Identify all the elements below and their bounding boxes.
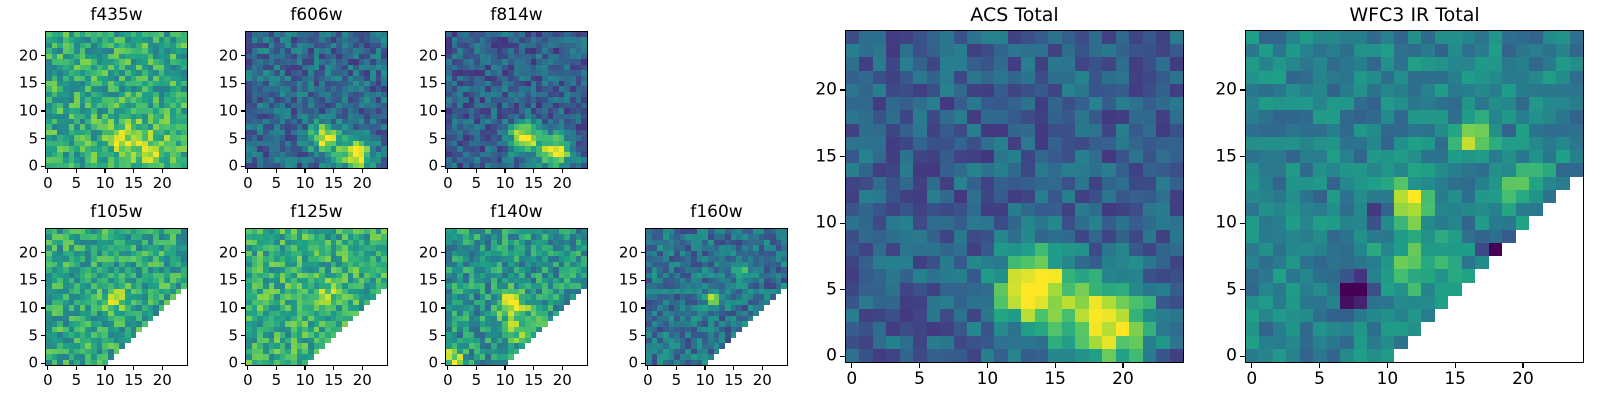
- xtick-f125w-2: [304, 366, 305, 370]
- xtick-f435w-3: [133, 169, 134, 173]
- xticklabel-f814w-3: 15: [524, 176, 543, 191]
- xtick-f606w-3: [333, 169, 334, 173]
- xtick-f105w-0: [47, 366, 48, 370]
- yticklabel-f814w-4: 20: [401, 48, 438, 63]
- panel-f105w: f105w0510152005101520: [1, 202, 192, 394]
- yticklabel-f814w-0: 0: [401, 159, 438, 174]
- yticklabel-acs-total-0: 0: [801, 348, 837, 365]
- panel-f606w: f606w0510152005101520: [201, 5, 392, 197]
- xticklabel-f160w-2: 10: [696, 373, 715, 388]
- yticklabel-f814w-2: 10: [401, 104, 438, 119]
- ytick-wfc3-ir-total-2: [1240, 223, 1245, 224]
- yticklabel-f140w-0: 0: [401, 356, 438, 371]
- xticklabel-f606w-1: 5: [272, 176, 282, 191]
- yticklabel-wfc3-ir-total-4: 20: [1201, 81, 1237, 98]
- yticklabel-f105w-2: 10: [1, 301, 38, 316]
- xticklabel-wfc3-ir-total-0: 0: [1246, 371, 1257, 388]
- xticklabel-wfc3-ir-total-2: 10: [1377, 371, 1399, 388]
- yticklabel-acs-total-1: 5: [801, 281, 837, 298]
- xtick-acs-total-4: [1122, 363, 1123, 368]
- xtick-f160w-1: [676, 366, 677, 370]
- ytick-wfc3-ir-total-3: [1240, 156, 1245, 157]
- xtick-f160w-0: [647, 366, 648, 370]
- yticklabel-f105w-3: 15: [1, 273, 38, 288]
- yticklabel-acs-total-4: 20: [801, 81, 837, 98]
- panel-title-f606w: f606w: [245, 7, 388, 24]
- xticklabel-f125w-3: 15: [324, 373, 343, 388]
- xticklabel-f140w-3: 15: [524, 373, 543, 388]
- xtick-f125w-3: [333, 366, 334, 370]
- xtick-acs-total-0: [851, 363, 852, 368]
- plot-area-f160w: [645, 228, 788, 366]
- xticklabel-f160w-1: 5: [672, 373, 682, 388]
- yticklabel-f125w-1: 5: [201, 328, 238, 343]
- yticklabel-f140w-4: 20: [401, 245, 438, 260]
- xtick-f435w-4: [162, 169, 163, 173]
- xtick-f140w-2: [504, 366, 505, 370]
- yticklabel-f125w-4: 20: [201, 245, 238, 260]
- yticklabel-f140w-3: 15: [401, 273, 438, 288]
- ytick-f160w-1: [641, 335, 645, 336]
- yticklabel-f105w-1: 5: [1, 328, 38, 343]
- yticklabel-f140w-2: 10: [401, 301, 438, 316]
- xticklabel-f160w-0: 0: [643, 373, 653, 388]
- xticklabel-f160w-3: 15: [724, 373, 743, 388]
- xticklabel-f125w-1: 5: [272, 373, 282, 388]
- yticklabel-f125w-3: 15: [201, 273, 238, 288]
- ytick-f160w-0: [641, 363, 645, 364]
- xticklabel-f814w-0: 0: [443, 176, 453, 191]
- yticklabel-f160w-3: 15: [601, 273, 638, 288]
- xticklabel-f125w-2: 10: [296, 373, 315, 388]
- xtick-f814w-0: [447, 169, 448, 173]
- yticklabel-f435w-0: 0: [1, 159, 38, 174]
- xticklabel-f160w-4: 20: [753, 373, 772, 388]
- xtick-f814w-4: [562, 169, 563, 173]
- heatmap-grid-f105w: [46, 229, 187, 365]
- yticklabel-f435w-2: 10: [1, 104, 38, 119]
- yticklabel-f140w-1: 5: [401, 328, 438, 343]
- yticklabel-f160w-0: 0: [601, 356, 638, 371]
- panel-f435w: f435w0510152005101520: [1, 5, 192, 197]
- heatmap-grid-f125w: [246, 229, 387, 365]
- ytick-f140w-0: [441, 363, 445, 364]
- panel-title-f160w: f160w: [645, 204, 788, 221]
- xticklabel-f125w-0: 0: [243, 373, 253, 388]
- ytick-f606w-2: [241, 110, 245, 111]
- xtick-f105w-1: [76, 366, 77, 370]
- xtick-f140w-4: [562, 366, 563, 370]
- yticklabel-f160w-4: 20: [601, 245, 638, 260]
- ytick-f814w-0: [441, 166, 445, 167]
- yticklabel-f435w-1: 5: [1, 131, 38, 146]
- heatmap-grid-f140w: [446, 229, 587, 365]
- ytick-f125w-4: [241, 252, 245, 253]
- xtick-f435w-2: [104, 169, 105, 173]
- xtick-f140w-0: [447, 366, 448, 370]
- xticklabel-wfc3-ir-total-3: 15: [1444, 371, 1466, 388]
- xtick-f140w-3: [533, 366, 534, 370]
- xtick-f606w-0: [247, 169, 248, 173]
- heatmap-grid-f160w: [646, 229, 787, 365]
- yticklabel-f125w-0: 0: [201, 356, 238, 371]
- plot-area-f606w: [245, 31, 388, 169]
- ytick-f814w-3: [441, 83, 445, 84]
- xticklabel-wfc3-ir-total-1: 5: [1314, 371, 1325, 388]
- ytick-f435w-4: [41, 55, 45, 56]
- xtick-f140w-1: [476, 366, 477, 370]
- yticklabel-acs-total-2: 10: [801, 215, 837, 232]
- xtick-f435w-1: [76, 169, 77, 173]
- yticklabel-f606w-1: 5: [201, 131, 238, 146]
- ytick-f814w-4: [441, 55, 445, 56]
- ytick-f606w-4: [241, 55, 245, 56]
- heatmap-grid-wfc3-ir-total: [1246, 31, 1583, 362]
- yticklabel-acs-total-3: 15: [801, 148, 837, 165]
- ytick-f606w-1: [241, 138, 245, 139]
- ytick-f435w-2: [41, 110, 45, 111]
- xticklabel-f606w-2: 10: [296, 176, 315, 191]
- plot-area-f125w: [245, 228, 388, 366]
- xticklabel-f105w-1: 5: [72, 373, 82, 388]
- yticklabel-f125w-2: 10: [201, 301, 238, 316]
- plot-area-f105w: [45, 228, 188, 366]
- xticklabel-f125w-4: 20: [353, 373, 372, 388]
- xticklabel-f435w-0: 0: [43, 176, 53, 191]
- xticklabel-f140w-1: 5: [472, 373, 482, 388]
- plot-area-f140w: [445, 228, 588, 366]
- panel-title-wfc3-ir-total: WFC3 IR Total: [1245, 6, 1584, 25]
- xticklabel-f606w-4: 20: [353, 176, 372, 191]
- xticklabel-f105w-2: 10: [96, 373, 115, 388]
- xticklabel-f606w-3: 15: [324, 176, 343, 191]
- panel-acs-total: ACS Total0510152005101520: [801, 4, 1188, 391]
- yticklabel-wfc3-ir-total-2: 10: [1201, 215, 1237, 232]
- plot-area-f814w: [445, 31, 588, 169]
- plot-area-wfc3-ir-total: [1245, 30, 1584, 363]
- xticklabel-f105w-0: 0: [43, 373, 53, 388]
- ytick-f125w-2: [241, 307, 245, 308]
- ytick-f814w-2: [441, 110, 445, 111]
- xticklabel-f105w-3: 15: [124, 373, 143, 388]
- panel-f140w: f140w0510152005101520: [401, 202, 592, 394]
- ytick-f105w-4: [41, 252, 45, 253]
- yticklabel-f606w-0: 0: [201, 159, 238, 174]
- xticklabel-acs-total-4: 20: [1112, 371, 1134, 388]
- xticklabel-f140w-0: 0: [443, 373, 453, 388]
- xticklabel-f435w-4: 20: [153, 176, 172, 191]
- ytick-f140w-4: [441, 252, 445, 253]
- yticklabel-f435w-3: 15: [1, 76, 38, 91]
- xtick-f435w-0: [47, 169, 48, 173]
- ytick-wfc3-ir-total-4: [1240, 89, 1245, 90]
- xticklabel-acs-total-2: 10: [977, 371, 999, 388]
- yticklabel-f105w-4: 20: [1, 245, 38, 260]
- panel-wfc3-ir-total: WFC3 IR Total0510152005101520: [1201, 4, 1588, 391]
- yticklabel-f814w-3: 15: [401, 76, 438, 91]
- xticklabel-f435w-1: 5: [72, 176, 82, 191]
- xtick-wfc3-ir-total-2: [1387, 363, 1388, 368]
- yticklabel-f606w-3: 15: [201, 76, 238, 91]
- xticklabel-wfc3-ir-total-4: 20: [1512, 371, 1534, 388]
- panel-title-f105w: f105w: [45, 204, 188, 221]
- ytick-f435w-0: [41, 166, 45, 167]
- ytick-acs-total-2: [840, 223, 845, 224]
- panel-title-f140w: f140w: [445, 204, 588, 221]
- xtick-f160w-2: [704, 366, 705, 370]
- ytick-f435w-1: [41, 138, 45, 139]
- yticklabel-f606w-4: 20: [201, 48, 238, 63]
- ytick-acs-total-4: [840, 89, 845, 90]
- ytick-wfc3-ir-total-0: [1240, 356, 1245, 357]
- xticklabel-acs-total-3: 15: [1044, 371, 1066, 388]
- ytick-f105w-0: [41, 363, 45, 364]
- ytick-f105w-2: [41, 307, 45, 308]
- xticklabel-f140w-2: 10: [496, 373, 515, 388]
- ytick-f814w-1: [441, 138, 445, 139]
- yticklabel-wfc3-ir-total-3: 15: [1201, 148, 1237, 165]
- xtick-f125w-0: [247, 366, 248, 370]
- xtick-f105w-2: [104, 366, 105, 370]
- yticklabel-wfc3-ir-total-0: 0: [1201, 348, 1237, 365]
- heatmap-grid-acs-total: [846, 31, 1183, 362]
- yticklabel-f160w-2: 10: [601, 301, 638, 316]
- figure-canvas: f435w0510152005101520f606w05101520051015…: [0, 0, 1600, 400]
- ytick-f125w-0: [241, 363, 245, 364]
- yticklabel-f814w-1: 5: [401, 131, 438, 146]
- ytick-acs-total-1: [840, 289, 845, 290]
- ytick-f105w-1: [41, 335, 45, 336]
- xtick-wfc3-ir-total-4: [1522, 363, 1523, 368]
- plot-area-acs-total: [845, 30, 1184, 363]
- ytick-f435w-3: [41, 83, 45, 84]
- heatmap-grid-f435w: [46, 32, 187, 168]
- xticklabel-f814w-1: 5: [472, 176, 482, 191]
- ytick-f606w-0: [241, 166, 245, 167]
- yticklabel-f606w-2: 10: [201, 104, 238, 119]
- xtick-f606w-4: [362, 169, 363, 173]
- plot-area-f435w: [45, 31, 188, 169]
- xticklabel-f435w-2: 10: [96, 176, 115, 191]
- xtick-f814w-1: [476, 169, 477, 173]
- yticklabel-wfc3-ir-total-1: 5: [1201, 281, 1237, 298]
- ytick-wfc3-ir-total-1: [1240, 289, 1245, 290]
- panel-f160w: f160w0510152005101520: [601, 202, 792, 394]
- panel-title-f814w: f814w: [445, 7, 588, 24]
- xtick-f814w-2: [504, 169, 505, 173]
- panel-title-f435w: f435w: [45, 7, 188, 24]
- xtick-f125w-4: [362, 366, 363, 370]
- panel-f125w: f125w0510152005101520: [201, 202, 392, 394]
- panel-title-f125w: f125w: [245, 204, 388, 221]
- ytick-f160w-4: [641, 252, 645, 253]
- xticklabel-f105w-4: 20: [153, 373, 172, 388]
- ytick-f140w-2: [441, 307, 445, 308]
- ytick-acs-total-3: [840, 156, 845, 157]
- heatmap-grid-f606w: [246, 32, 387, 168]
- ytick-f606w-3: [241, 83, 245, 84]
- xtick-acs-total-2: [987, 363, 988, 368]
- heatmap-grid-f814w: [446, 32, 587, 168]
- xticklabel-acs-total-1: 5: [914, 371, 925, 388]
- ytick-acs-total-0: [840, 356, 845, 357]
- xticklabel-f435w-3: 15: [124, 176, 143, 191]
- xticklabel-f814w-4: 20: [553, 176, 572, 191]
- panel-f814w: f814w0510152005101520: [401, 5, 592, 197]
- ytick-f125w-1: [241, 335, 245, 336]
- xtick-f814w-3: [533, 169, 534, 173]
- xticklabel-f140w-4: 20: [553, 373, 572, 388]
- xtick-f160w-4: [762, 366, 763, 370]
- yticklabel-f160w-1: 5: [601, 328, 638, 343]
- xticklabel-f606w-0: 0: [243, 176, 253, 191]
- xtick-wfc3-ir-total-3: [1455, 363, 1456, 368]
- yticklabel-f435w-4: 20: [1, 48, 38, 63]
- xtick-f160w-3: [733, 366, 734, 370]
- ytick-f160w-3: [641, 280, 645, 281]
- yticklabel-f105w-0: 0: [1, 356, 38, 371]
- xtick-wfc3-ir-total-1: [1319, 363, 1320, 368]
- ytick-f105w-3: [41, 280, 45, 281]
- xtick-f606w-1: [276, 169, 277, 173]
- xticklabel-f814w-2: 10: [496, 176, 515, 191]
- xtick-f606w-2: [304, 169, 305, 173]
- panel-title-acs-total: ACS Total: [845, 6, 1184, 25]
- xtick-f125w-1: [276, 366, 277, 370]
- ytick-f125w-3: [241, 280, 245, 281]
- xtick-wfc3-ir-total-0: [1251, 363, 1252, 368]
- ytick-f140w-3: [441, 280, 445, 281]
- xticklabel-acs-total-0: 0: [846, 371, 857, 388]
- xtick-acs-total-3: [1055, 363, 1056, 368]
- ytick-f140w-1: [441, 335, 445, 336]
- xtick-f105w-4: [162, 366, 163, 370]
- ytick-f160w-2: [641, 307, 645, 308]
- xtick-acs-total-1: [919, 363, 920, 368]
- xtick-f105w-3: [133, 366, 134, 370]
